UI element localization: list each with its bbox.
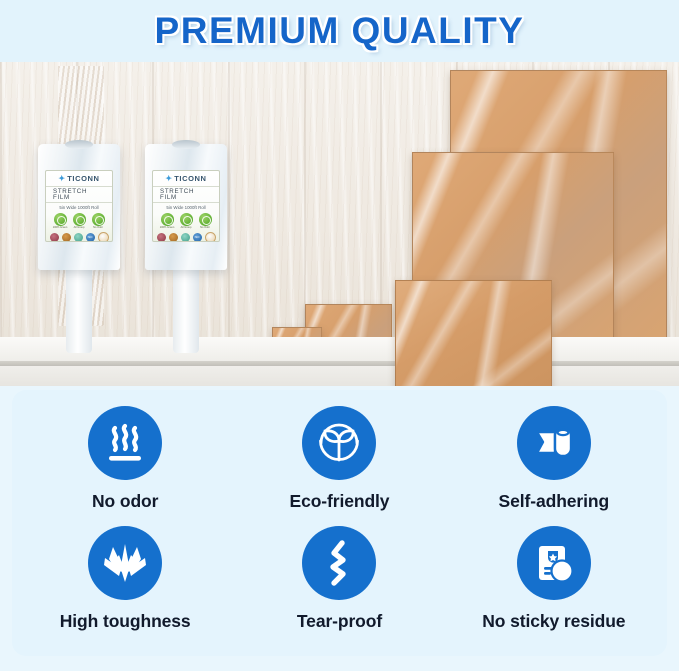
recycle-100-icon [161, 213, 174, 226]
label-brand: ✦ TICONN [165, 175, 206, 183]
feature-eco-friendly: Eco-friendly [232, 406, 446, 526]
wrapped-box-front [395, 280, 552, 386]
leaf-check-icon [180, 213, 193, 226]
iso-badge-icon: ISO [86, 233, 95, 242]
feature-label: No sticky residue [482, 611, 625, 632]
product-photo: ✦ TICONN STRETCH FILM 5in Wide 1000ft Ro… [0, 62, 679, 386]
feature-highlights-panel: No odor Eco-friendly [12, 390, 667, 656]
zigzag-tear-line-icon [302, 526, 376, 600]
certificate-seal-teal-icon [74, 233, 83, 242]
film-roll-core-left [66, 267, 92, 353]
label-spec: 5in Wide 1000ft Roll [166, 206, 205, 210]
impact-burst-arrows-icon [88, 526, 162, 600]
label-brand: ✦ TICONN [58, 175, 99, 183]
certificate-seal-gold-icon [169, 233, 178, 242]
eco-caption: 100% Green [159, 227, 175, 230]
feature-row-1: No odor Eco-friendly [18, 406, 661, 526]
film-roll-core-right [173, 267, 199, 353]
certificate-seal-gold-icon [62, 233, 71, 242]
feature-self-adhering: Self-adhering [447, 406, 661, 526]
eco-caption: No Odor [197, 227, 213, 230]
no-smell-leaf-icon [92, 213, 105, 226]
feature-row-2: High toughness Tear-proof [18, 526, 661, 646]
feature-label: Tear-proof [297, 611, 382, 632]
film-roll-left: ✦ TICONN STRETCH FILM 5in Wide 1000ft Ro… [38, 144, 120, 270]
feature-tear-proof: Tear-proof [232, 526, 446, 646]
product-label: ✦ TICONN STRETCH FILM 5in Wide 1000ft Ro… [152, 170, 220, 242]
product-label: ✦ TICONN STRETCH FILM 5in Wide 1000ft Ro… [45, 170, 113, 242]
label-eco-captions: 100% Green All Group No Odor [159, 227, 213, 230]
shelf-front-edge [0, 361, 679, 366]
ticonn-logo-icon: ✦ [58, 175, 65, 183]
iso-badge-icon: ISO [193, 233, 202, 242]
label-product-name: STRETCH FILM [46, 186, 112, 203]
feature-no-sticky-residue: No sticky residue [447, 526, 661, 646]
page-title: PREMIUM QUALITY [155, 10, 525, 52]
label-cert-badges: ISO [50, 232, 109, 242]
roll-top-cap [65, 140, 93, 149]
certificate-magnifier-icon [517, 526, 591, 600]
feature-label: High toughness [60, 611, 191, 632]
steam-odor-lines-icon [88, 406, 162, 480]
film-roll-right: ✦ TICONN STRETCH FILM 5in Wide 1000ft Ro… [145, 144, 227, 270]
label-eco-badges [161, 213, 212, 226]
no-smell-leaf-icon [199, 213, 212, 226]
header-banner: PREMIUM QUALITY [0, 0, 679, 62]
leaf-check-icon [73, 213, 86, 226]
ticonn-logo-icon: ✦ [165, 175, 172, 183]
certificate-seal-red-icon [50, 233, 59, 242]
certificate-seal-cream-icon [98, 232, 109, 242]
shelf-top-surface [0, 337, 679, 361]
certificate-seal-cream-icon [205, 232, 216, 242]
feature-label: Self-adhering [499, 491, 610, 512]
sprout-leaf-circle-icon [302, 406, 376, 480]
label-spec: 5in Wide 1000ft Roll [59, 206, 98, 210]
roll-top-cap [172, 140, 200, 149]
eco-caption: All Group [71, 227, 87, 230]
eco-caption: All Group [178, 227, 194, 230]
certificate-seal-teal-icon [181, 233, 190, 242]
feature-label: Eco-friendly [290, 491, 390, 512]
recycle-100-icon [54, 213, 67, 226]
eco-caption: No Odor [90, 227, 106, 230]
eco-caption: 100% Green [52, 227, 68, 230]
certificate-seal-red-icon [157, 233, 166, 242]
feature-label: No odor [92, 491, 158, 512]
stretch-film-sheen [396, 281, 551, 386]
label-eco-badges [54, 213, 105, 226]
label-eco-captions: 100% Green All Group No Odor [52, 227, 106, 230]
product-feature-image: PREMIUM QUALITY [0, 0, 679, 671]
feature-high-toughness: High toughness [18, 526, 232, 646]
film-roll-sheet-icon [517, 406, 591, 480]
feature-no-odor: No odor [18, 406, 232, 526]
label-product-name: STRETCH FILM [153, 186, 219, 203]
label-cert-badges: ISO [157, 232, 216, 242]
